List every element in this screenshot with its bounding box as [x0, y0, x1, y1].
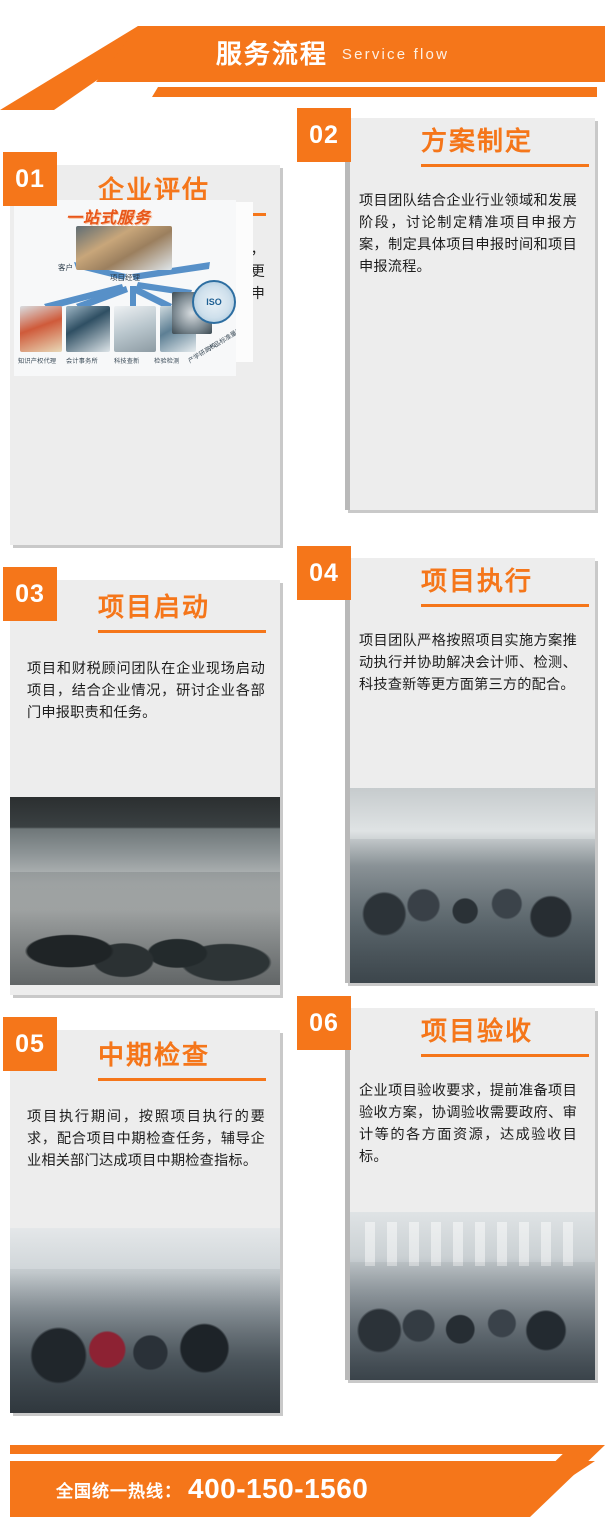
- card-number-badge: 04: [297, 546, 351, 600]
- onestop-label-ip: 知识产权代理: [18, 356, 56, 365]
- footer-accent-stripe: [10, 1445, 595, 1454]
- card-background: [345, 118, 595, 510]
- header-title-en: Service flow: [342, 47, 449, 62]
- onestop-node-manager: 项目经理: [110, 272, 140, 283]
- header-accent-stripe: [0, 87, 605, 97]
- onestop-label-novelty: 科技查新: [114, 356, 140, 365]
- page-header: 服务流程 Service flow: [0, 0, 605, 110]
- card-03-photo: [10, 797, 280, 985]
- card-title-underline: [421, 1054, 589, 1057]
- card-04-photo: [350, 788, 595, 983]
- card-title: 项目启动: [98, 594, 210, 620]
- card-number-badge: 03: [3, 567, 57, 621]
- card-title: 项目验收: [421, 1018, 533, 1044]
- page-footer: 全国统一热线： 400-150-1560: [0, 1425, 605, 1538]
- footer-hotline-number[interactable]: 400-150-1560: [188, 1473, 368, 1505]
- card-title: 项目执行: [421, 568, 533, 594]
- card-title-underline: [98, 1078, 266, 1081]
- onestop-photo-novelty: [114, 306, 156, 352]
- header-title-cn: 服务流程: [216, 41, 328, 67]
- onestop-label-testing: 检验检测: [154, 356, 180, 365]
- card-number-badge: 01: [3, 152, 57, 206]
- onestop-photo-ip: [20, 306, 62, 352]
- card-description: 项目团队结合企业行业领域和发展阶段，讨论制定精准项目申报方案，制定具体项目申报时…: [359, 190, 577, 278]
- card-description: 项目团队严格按照项目实施方案推动执行并协助解决会计师、检测、科技查新等更方面第三…: [359, 630, 577, 696]
- card-number-badge: 05: [3, 1017, 57, 1071]
- card-description: 企业项目验收要求，提前准备项目验收方案，协调验收需要政府、审计等的各方面资源，达…: [359, 1080, 577, 1168]
- card-number-badge: 06: [297, 996, 351, 1050]
- header-title-group: 服务流程 Service flow: [0, 26, 605, 82]
- footer-hotline-group: 全国统一热线： 400-150-1560: [56, 1461, 368, 1517]
- card-number-badge: 02: [297, 108, 351, 162]
- card-title-underline: [421, 164, 589, 167]
- onestop-photo-accounting: [66, 306, 110, 352]
- card-title-underline: [98, 630, 266, 633]
- onestop-node-customer: 客户: [58, 262, 73, 273]
- card-description: 项目执行期间，按照项目执行的要求，配合项目中期检查任务，辅导企业相关部门达成项目…: [27, 1106, 265, 1172]
- card-05-photo: [10, 1228, 280, 1413]
- onestop-label-accounting: 会计事务所: [66, 356, 98, 365]
- onestop-iso-seal: ISO: [192, 280, 236, 324]
- card-description: 项目和财税顾问团队在企业现场启动项目，结合企业情况，研讨企业各部门申报职责和任务…: [27, 658, 265, 724]
- process-card-02[interactable]: 02 方案制定 项目团队结合企业行业领域和发展阶段，讨论制定精准项目申报方案，制…: [345, 118, 595, 510]
- card-06-photo: [350, 1212, 595, 1380]
- onestop-photo-meeting: [76, 226, 172, 270]
- wall-frames-decoration: [365, 1222, 581, 1266]
- card-title: 中期检查: [98, 1042, 210, 1068]
- footer-hotline-label: 全国统一热线：: [56, 1477, 182, 1502]
- onestop-diagram-figure: 一站式服务 客户 项目经理 ISO 知识产权代理 会计事务所 科技查新 检验检测…: [14, 200, 236, 376]
- card-title: 方案制定: [421, 128, 533, 154]
- card-title-underline: [421, 604, 589, 607]
